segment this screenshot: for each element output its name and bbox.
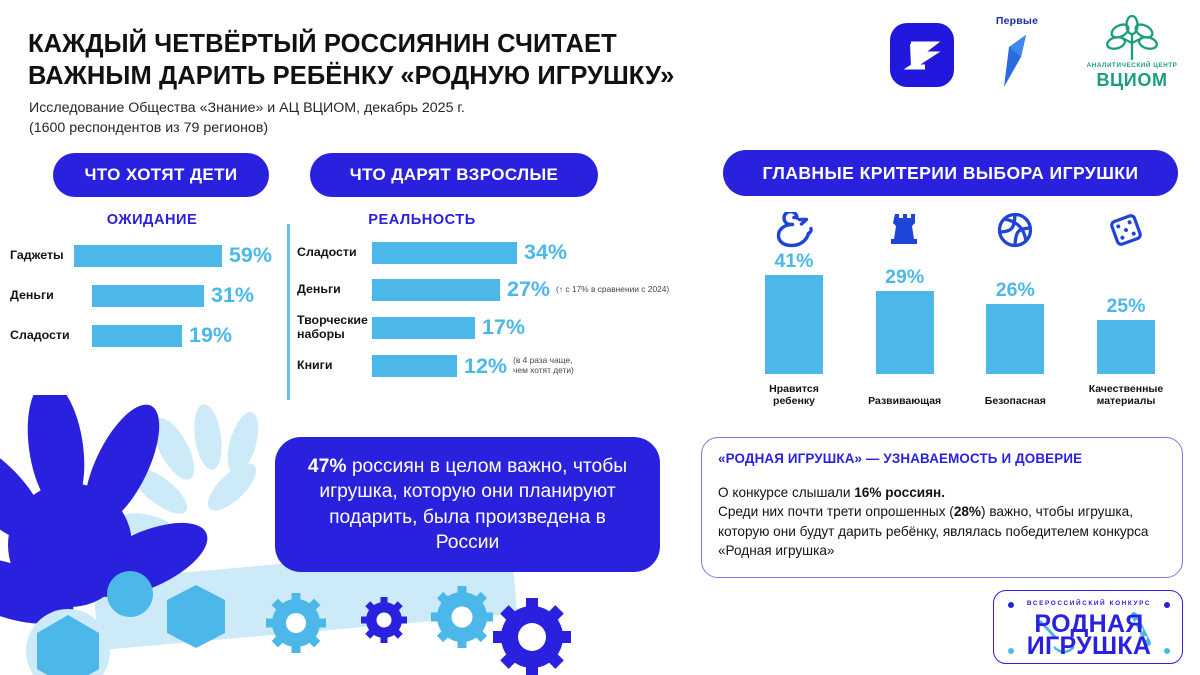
bar-note: (в 4 раза чаще, чем хотят дети) bbox=[513, 356, 574, 376]
callout-text: россиян в целом важно, чтобы игрушка, ко… bbox=[319, 456, 627, 553]
badge-line-2: ИГРУШКА bbox=[994, 632, 1183, 661]
bar-label: Книги bbox=[297, 359, 372, 373]
criteria-value: 29% bbox=[856, 266, 954, 289]
bar-fill bbox=[74, 245, 222, 267]
page-subtitle: Исследование Общества «Знание» и АЦ ВЦИО… bbox=[29, 98, 669, 138]
infobox-title: «РОДНАЯ ИГРУШКА» — УЗНАВАЕМОСТЬ И ДОВЕРИ… bbox=[718, 451, 1166, 466]
criteria-column: 25%Качественные материалы bbox=[1077, 208, 1175, 408]
bar-row: Книги12%(в 4 раза чаще, чем хотят дети) bbox=[297, 354, 707, 379]
bar-row: Деньги31% bbox=[10, 283, 272, 308]
criteria-label: Развивающая bbox=[856, 395, 954, 408]
infobox-line1-pre: О конкурсе слышали bbox=[718, 485, 854, 500]
blue-flower-icon bbox=[0, 395, 218, 637]
pill-main-criteria[interactable]: ГЛАВНЫЕ КРИТЕРИИ ВЫБОРА ИГРУШКИ bbox=[723, 150, 1178, 196]
bar-label: Творческие наборы bbox=[297, 314, 372, 342]
infobox-line-1: О конкурсе слышали 16% россиян. bbox=[718, 483, 1166, 502]
logo-group: Первые АНАЛИТИЧЕСКИЙ ЦЕНТР ВЦИОМ bbox=[890, 12, 1184, 98]
bar-track bbox=[92, 285, 204, 307]
bar-value: 34% bbox=[524, 240, 567, 265]
chart-reality-title: РЕАЛЬНОСТЬ bbox=[297, 212, 547, 228]
vciom-subtitle: АНАЛИТИЧЕСКИЙ ЦЕНТР bbox=[1080, 62, 1184, 69]
vciom-logo-icon: АНАЛИТИЧЕСКИЙ ЦЕНТР ВЦИОМ bbox=[1080, 15, 1184, 95]
infographic-canvas: КАЖДЫЙ ЧЕТВЁРТЫЙ РОССИЯНИН СЧИТАЕТ ВАЖНЫ… bbox=[0, 0, 1200, 675]
criteria-bar bbox=[986, 304, 1044, 374]
bar-row: Творческие наборы17% bbox=[297, 314, 707, 342]
infobox-line1-bold: 16% россиян. bbox=[854, 485, 945, 500]
bar-row: Деньги27%(↑ с 17% в сравнении с 2024) bbox=[297, 277, 707, 302]
criteria-value: 41% bbox=[745, 250, 843, 273]
pervye-caption: Первые bbox=[980, 15, 1054, 27]
infobox-body: О конкурсе слышали 16% россиян. Среди ни… bbox=[718, 483, 1166, 560]
bar-track bbox=[74, 245, 222, 267]
criteria-column: 41%Нравится ребенку bbox=[745, 208, 843, 408]
bar-label: Сладости bbox=[10, 329, 92, 343]
chart-expectation: ОЖИДАНИЕ Гаджеты59%Деньги31%Сладости19% bbox=[10, 212, 272, 348]
dice-icon bbox=[1077, 208, 1175, 250]
bar-row: Гаджеты59% bbox=[10, 243, 272, 268]
bar-value: 19% bbox=[189, 323, 232, 348]
bar-fill bbox=[372, 279, 500, 301]
criteria-column: 26%Безопасная bbox=[966, 208, 1064, 408]
duck-icon bbox=[745, 208, 843, 250]
bar-label: Деньги bbox=[297, 283, 372, 297]
infobox-line2-bold: 28% bbox=[954, 504, 981, 519]
ball-icon bbox=[966, 208, 1064, 250]
vciom-tree-icon bbox=[1080, 15, 1184, 63]
bar-label: Гаджеты bbox=[10, 249, 74, 263]
infobox-recognition: «РОДНАЯ ИГРУШКА» — УЗНАВАЕМОСТЬ И ДОВЕРИ… bbox=[701, 437, 1183, 578]
bar-track bbox=[372, 355, 457, 377]
pervye-arrow-icon bbox=[980, 29, 1054, 95]
criteria-bar bbox=[765, 275, 823, 374]
bar-fill bbox=[372, 242, 517, 264]
criteria-label: Безопасная bbox=[966, 395, 1064, 408]
badge-top-text: ВСЕРОССИЙСКИЙ КОНКУРС bbox=[994, 600, 1183, 607]
page-title: КАЖДЫЙ ЧЕТВЁРТЫЙ РОССИЯНИН СЧИТАЕТ ВАЖНЫ… bbox=[28, 28, 728, 92]
criteria-column: 29%Развивающая bbox=[856, 208, 954, 408]
bar-fill bbox=[372, 355, 457, 377]
bar-fill bbox=[372, 317, 475, 339]
chart-expectation-rows: Гаджеты59%Деньги31%Сладости19% bbox=[10, 243, 272, 348]
chart-reality-rows: Сладости34%Деньги27%(↑ с 17% в сравнении… bbox=[297, 240, 707, 379]
rodnaya-igrushka-badge[interactable]: ВСЕРОССИЙСКИЙ КОНКУРС РОДНАЯ ИГРУШКА bbox=[993, 590, 1183, 664]
chart-expectation-title: ОЖИДАНИЕ bbox=[32, 212, 272, 228]
bar-note: (↑ с 17% в сравнении с 2024) bbox=[556, 285, 669, 295]
pill-what-adults-give[interactable]: ЧТО ДАРЯТ ВЗРОСЛЫЕ bbox=[310, 153, 598, 197]
bar-track bbox=[372, 242, 517, 264]
criteria-value: 26% bbox=[966, 279, 1064, 302]
criteria-label: Нравится ребенку bbox=[745, 383, 843, 408]
bar-label: Сладости bbox=[297, 246, 372, 260]
znanie-logo-icon bbox=[890, 23, 954, 87]
bar-row: Сладости19% bbox=[10, 323, 272, 348]
criteria-bar bbox=[1097, 320, 1155, 374]
bar-value: 27% bbox=[507, 277, 550, 302]
bar-fill bbox=[92, 325, 182, 347]
bar-value: 31% bbox=[211, 283, 254, 308]
znanie-z-glyph bbox=[902, 35, 942, 75]
pale-leaves-icon bbox=[116, 403, 264, 546]
criteria-value: 25% bbox=[1077, 295, 1175, 318]
bar-fill bbox=[92, 285, 204, 307]
pervye-logo-icon: Первые bbox=[980, 15, 1054, 95]
criteria-label: Качественные материалы bbox=[1077, 383, 1175, 408]
infobox-line2-pre: Среди них почти трети опрошенных ( bbox=[718, 504, 954, 519]
bar-label: Деньги bbox=[10, 289, 92, 303]
vciom-name: ВЦИОМ bbox=[1080, 70, 1184, 91]
bar-value: 17% bbox=[482, 315, 525, 340]
bar-track bbox=[372, 279, 500, 301]
bar-track bbox=[92, 325, 182, 347]
pill-what-kids-want[interactable]: ЧТО ХОТЯТ ДЕТИ bbox=[53, 153, 269, 197]
gear-row-icon bbox=[266, 586, 571, 675]
panel-divider bbox=[287, 224, 290, 400]
bar-row: Сладости34% bbox=[297, 240, 707, 265]
chart-reality: РЕАЛЬНОСТЬ Сладости34%Деньги27%(↑ с 17% … bbox=[297, 212, 707, 379]
callout-highlight: 47% bbox=[308, 456, 347, 477]
criteria-bar bbox=[876, 291, 934, 374]
chess-rook-icon bbox=[856, 208, 954, 250]
callout-made-in-russia: 47% россиян в целом важно, чтобы игрушка… bbox=[275, 437, 660, 572]
chart-criteria: 41%Нравится ребенку29%Развивающая26%Безо… bbox=[745, 208, 1175, 408]
bar-value: 59% bbox=[229, 243, 272, 268]
bar-value: 12% bbox=[464, 354, 507, 379]
bar-track bbox=[372, 317, 475, 339]
infobox-line-2: Среди них почти трети опрошенных (28%) в… bbox=[718, 502, 1166, 560]
